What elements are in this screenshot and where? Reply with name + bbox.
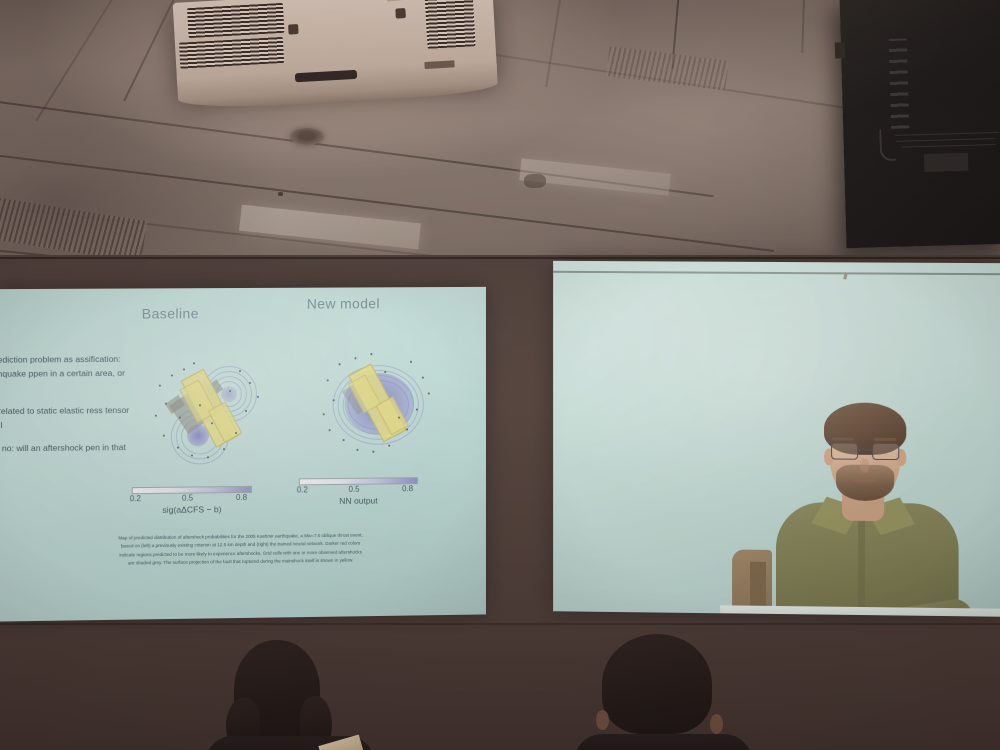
audience-right-ear-left: [596, 710, 609, 730]
wall-pin-icon: [843, 272, 848, 280]
colorbar-ticks-baseline: 0.2 0.5 0.8: [132, 493, 252, 505]
monitor-cable: [879, 129, 896, 161]
video-participant: [764, 392, 965, 617]
ceiling-projector: [173, 0, 498, 95]
video-top-edge: [553, 271, 1000, 275]
slide-content: Baseline New model ame the prediction pr…: [0, 287, 486, 622]
monitor-label-plate: [924, 153, 968, 172]
colorbar-ticks-new-model: 0.2 0.5 0.8: [299, 484, 418, 496]
map-new-model: [319, 349, 436, 458]
audience-right-shoulder: [574, 734, 752, 750]
projector-port-right: [395, 8, 406, 19]
participant-nose: [860, 459, 869, 473]
projector-vent-grille-left: [187, 3, 285, 38]
glasses-lens-left: [831, 442, 858, 459]
audience-member-right: [588, 634, 738, 750]
glasses-bridge: [858, 449, 872, 451]
glasses-icon: [828, 442, 902, 460]
ceiling-downlight: [290, 128, 324, 145]
participant-eyebrow-left: [832, 437, 854, 440]
video-call-feed: [553, 261, 1000, 617]
cbar-tick-mid: 0.5: [182, 494, 193, 503]
cbar-tick-max: 0.8: [236, 493, 247, 502]
cbar-tick-min: 0.2: [130, 494, 141, 503]
projector-vent-grille-left-2: [179, 37, 284, 69]
audience-member-left: [212, 640, 382, 750]
left-projection-screen[interactable]: Baseline New model ame the prediction pr…: [0, 287, 486, 622]
slide-figure-caption: Map of predicted distribution of aftersh…: [116, 532, 366, 569]
projector-port-left: [288, 24, 299, 35]
projector-vent-grille-right: [424, 0, 475, 49]
right-projection-screen[interactable]: [553, 261, 1000, 617]
wall-mounted-monitor: [840, 0, 1000, 248]
participant-eyebrow-right: [874, 438, 896, 441]
colorbar-title-new-model: NN output: [294, 495, 423, 506]
monitor-bracket: [835, 42, 845, 58]
slide-bullet-list: ame the prediction problem as assificati…: [0, 353, 133, 480]
cbar-tick-max-2: 0.8: [402, 484, 413, 493]
map-baseline: [149, 356, 267, 465]
ceiling-fixture-speck: [278, 192, 283, 196]
projector-mount: [385, 0, 413, 2]
slide-bullet-2: puts: Data related to static elastic res…: [0, 404, 133, 434]
glasses-lens-right: [872, 443, 899, 460]
cbar-tick-min-2: 0.2: [297, 485, 308, 494]
slide-bullet-3: tput: Yes or no: will an aftershock pen …: [0, 441, 133, 471]
audience-right-hair: [602, 634, 712, 734]
colorbar-new-model: 0.2 0.5 0.8 NN output: [299, 477, 423, 506]
colorbar-baseline: 0.2 0.5 0.8 sig(aΔCFS − b): [132, 486, 257, 515]
cbar-tick-mid-2: 0.5: [349, 485, 360, 494]
slide-bullet-1: ame the prediction problem as assificati…: [0, 353, 133, 396]
monitor-vent-slots: [889, 38, 910, 128]
slide-heading-new-model: New model: [307, 295, 380, 311]
audience-right-ear-right: [710, 714, 723, 734]
participant-shirt-placket: [858, 521, 865, 617]
colorbar-title-baseline: sig(aΔCFS − b): [127, 504, 257, 515]
participant-mouth: [852, 479, 876, 482]
slide-heading-baseline: Baseline: [142, 305, 199, 321]
ceiling-fixture-speck-2: [524, 174, 546, 188]
conference-room-photo: Baseline New model ame the prediction pr…: [0, 0, 1000, 750]
